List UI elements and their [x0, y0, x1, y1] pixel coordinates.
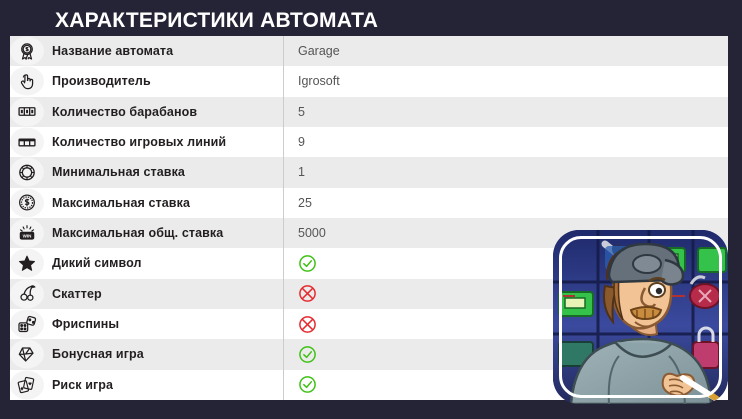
row-label: Дикий символ [52, 256, 142, 270]
row-value: 5 [298, 105, 305, 119]
row-value: Igrosoft [298, 74, 340, 88]
feature-yes-icon [298, 254, 317, 273]
row-value: Garage [298, 44, 340, 58]
row-label: Фриспины [52, 317, 119, 331]
chip-icon [10, 158, 44, 187]
dollar-coin-icon [10, 188, 44, 217]
feature-no-icon [298, 284, 317, 303]
feature-no-icon [298, 315, 317, 334]
pointing-hand-icon [10, 67, 44, 96]
cherries-icon [10, 279, 44, 308]
column-divider [283, 36, 284, 400]
thumbnail-artwork [553, 230, 728, 404]
table-row: Количество барабанов5 [10, 97, 728, 127]
table-row: Минимальная ставка1 [10, 157, 728, 187]
slot-reels-icon [10, 97, 44, 126]
star-icon [10, 249, 44, 278]
row-label: Максимальная ставка [52, 196, 190, 210]
slot-specs-page: ХАРАКТЕРИСТИКИ АВТОМАТА Название автомат… [0, 0, 742, 419]
feature-yes-icon [298, 375, 317, 394]
table-row: Название автоматаGarage [10, 36, 728, 66]
paylines-grid-icon [10, 128, 44, 157]
row-label: Минимальная ставка [52, 165, 185, 179]
feature-yes-icon [298, 345, 317, 364]
row-label: Название автомата [52, 44, 173, 58]
row-label: Риск игра [52, 378, 113, 392]
row-label: Количество барабанов [52, 105, 197, 119]
cards-icon [10, 370, 44, 399]
row-value: 5000 [298, 226, 326, 240]
row-label: Бонусная игра [52, 347, 144, 361]
table-row: Количество игровых линий9 [10, 127, 728, 157]
table-row: Максимальная ставка25 [10, 188, 728, 218]
left-rail [0, 36, 10, 400]
award-dollar-icon [10, 37, 44, 66]
row-value: 9 [298, 135, 305, 149]
gem-icon [10, 340, 44, 369]
row-label: Скаттер [52, 287, 102, 301]
row-value: 1 [298, 165, 305, 179]
table-row: ПроизводительIgrosoft [10, 66, 728, 96]
svg-text:WIN: WIN [23, 233, 32, 238]
dice-icon [10, 310, 44, 339]
row-label: Производитель [52, 74, 151, 88]
win-crown-icon: WIN [10, 219, 44, 248]
page-title: ХАРАКТЕРИСТИКИ АВТОМАТА [55, 8, 378, 34]
garage-slot-thumbnail[interactable] [553, 230, 728, 404]
row-value: 25 [298, 196, 312, 210]
row-label: Максимальная общ. ставка [52, 226, 223, 240]
row-label: Количество игровых линий [52, 135, 226, 149]
